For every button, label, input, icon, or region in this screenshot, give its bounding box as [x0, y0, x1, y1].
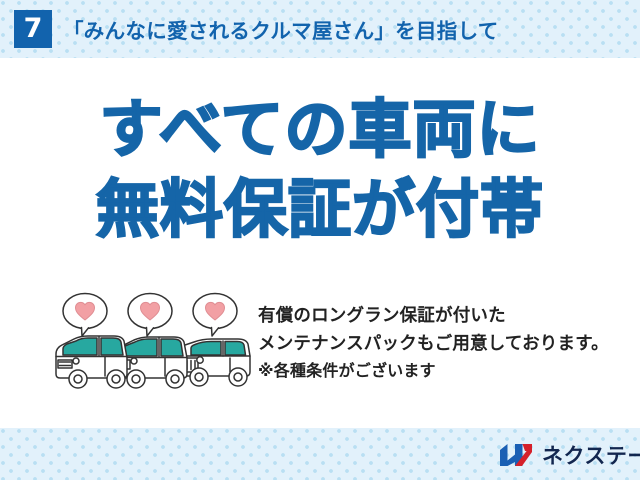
- body-copy-note: ※各種条件がございます: [258, 358, 633, 383]
- brand-logo: ネクステージ: [498, 438, 640, 472]
- content-area: 有償のロングラン保証が付いた メンテナンスパックもご用意しております。 ※各種条…: [0, 290, 640, 405]
- headline-line-1: すべての車両に: [0, 98, 640, 161]
- brand-logo-text: ネクステージ: [542, 440, 640, 470]
- promo-poster: 7 「みんなに愛されるクルマ屋さん」を目指して すべての車両に 無料保証が付帯: [0, 0, 640, 480]
- body-copy-line-2: メンテナンスパックもご用意しております。: [258, 331, 633, 359]
- nextage-n-icon: [498, 442, 534, 468]
- kei-van-icon: [56, 336, 127, 388]
- body-copy: 有償のロングラン保証が付いた メンテナンスパックもご用意しております。 ※各種条…: [258, 303, 633, 384]
- body-copy-line-1: 有償のロングラン保証が付いた: [258, 303, 633, 331]
- header-title: 「みんなに愛されるクルマ屋さん」を目指して: [63, 14, 499, 44]
- header: 7 「みんなに愛されるクルマ屋さん」を目指して: [0, 0, 640, 58]
- headline-line-2: 無料保証が付帯: [0, 178, 640, 241]
- headline: すべての車両に 無料保証が付帯: [0, 98, 640, 241]
- step-number-badge: 7: [14, 10, 52, 48]
- cars-illustration: [52, 290, 252, 398]
